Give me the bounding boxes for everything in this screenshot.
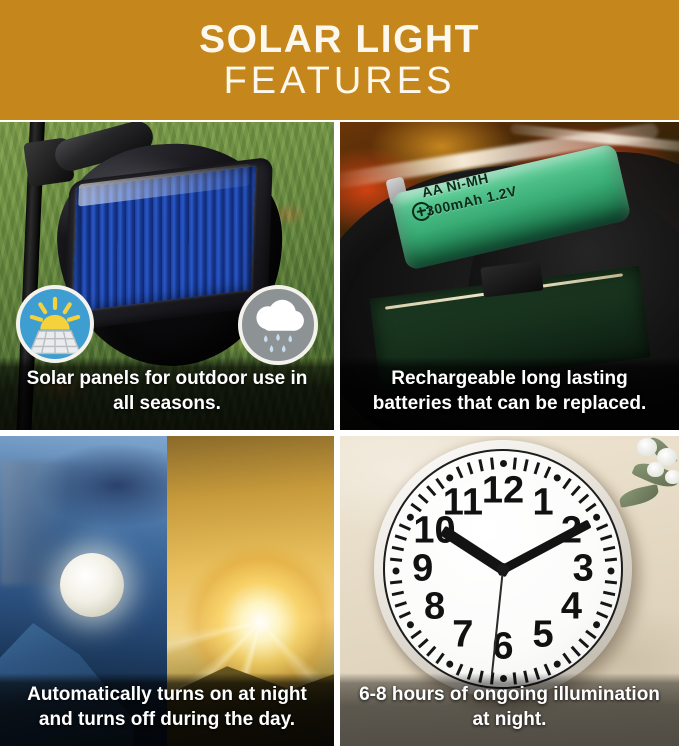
clock-face: 12 1 2 3 4 5 6 7 8 9 10 11 [383,449,623,689]
caption-runtime: 6-8 hours of ongoing illumination at nig… [340,673,679,746]
full-moon [60,553,124,617]
caption-rechargeable-batteries: Rechargeable long lasting batteries that… [340,357,679,430]
page-title-line1: SOLAR LIGHT [199,20,480,59]
feature-panel-auto-on-off: Automatically turns on at night and turn… [0,436,334,746]
clock-numeral-9: 9 [412,548,433,591]
clock-numeral-12: 12 [482,470,524,513]
solar-panel-sun-icon [16,285,94,363]
header-banner: SOLAR LIGHT FEATURES [0,0,679,120]
clock-center-cap [497,563,509,575]
rain-cloud-icon [238,285,318,365]
feature-grid: Solar panels for outdoor use in all seas… [0,122,679,746]
clock-numeral-8: 8 [424,585,445,628]
caption-auto-on-off: Automatically turns on at night and turn… [0,673,334,746]
clock-numeral-7: 7 [452,614,473,657]
clock-numeral-1: 1 [533,481,554,524]
clock-numeral-5: 5 [533,614,554,657]
feature-panel-solar-panels: Solar panels for outdoor use in all seas… [0,122,334,430]
clock-numeral-11: 11 [443,481,483,524]
page-title-line2: FEATURES [224,62,456,100]
clock-numeral-4: 4 [561,585,582,628]
feature-panel-runtime: 12 1 2 3 4 5 6 7 8 9 10 11 [340,436,679,746]
caption-solar-panels: Solar panels for outdoor use in all seas… [0,357,334,430]
feature-panel-rechargeable-batteries: AA Ni-MH 300mAh 1.2V Rechargeable long l… [340,122,679,430]
solar-light-features-infographic: SOLAR LIGHT FEATURES [0,0,679,746]
clock-numeral-3: 3 [573,548,594,591]
